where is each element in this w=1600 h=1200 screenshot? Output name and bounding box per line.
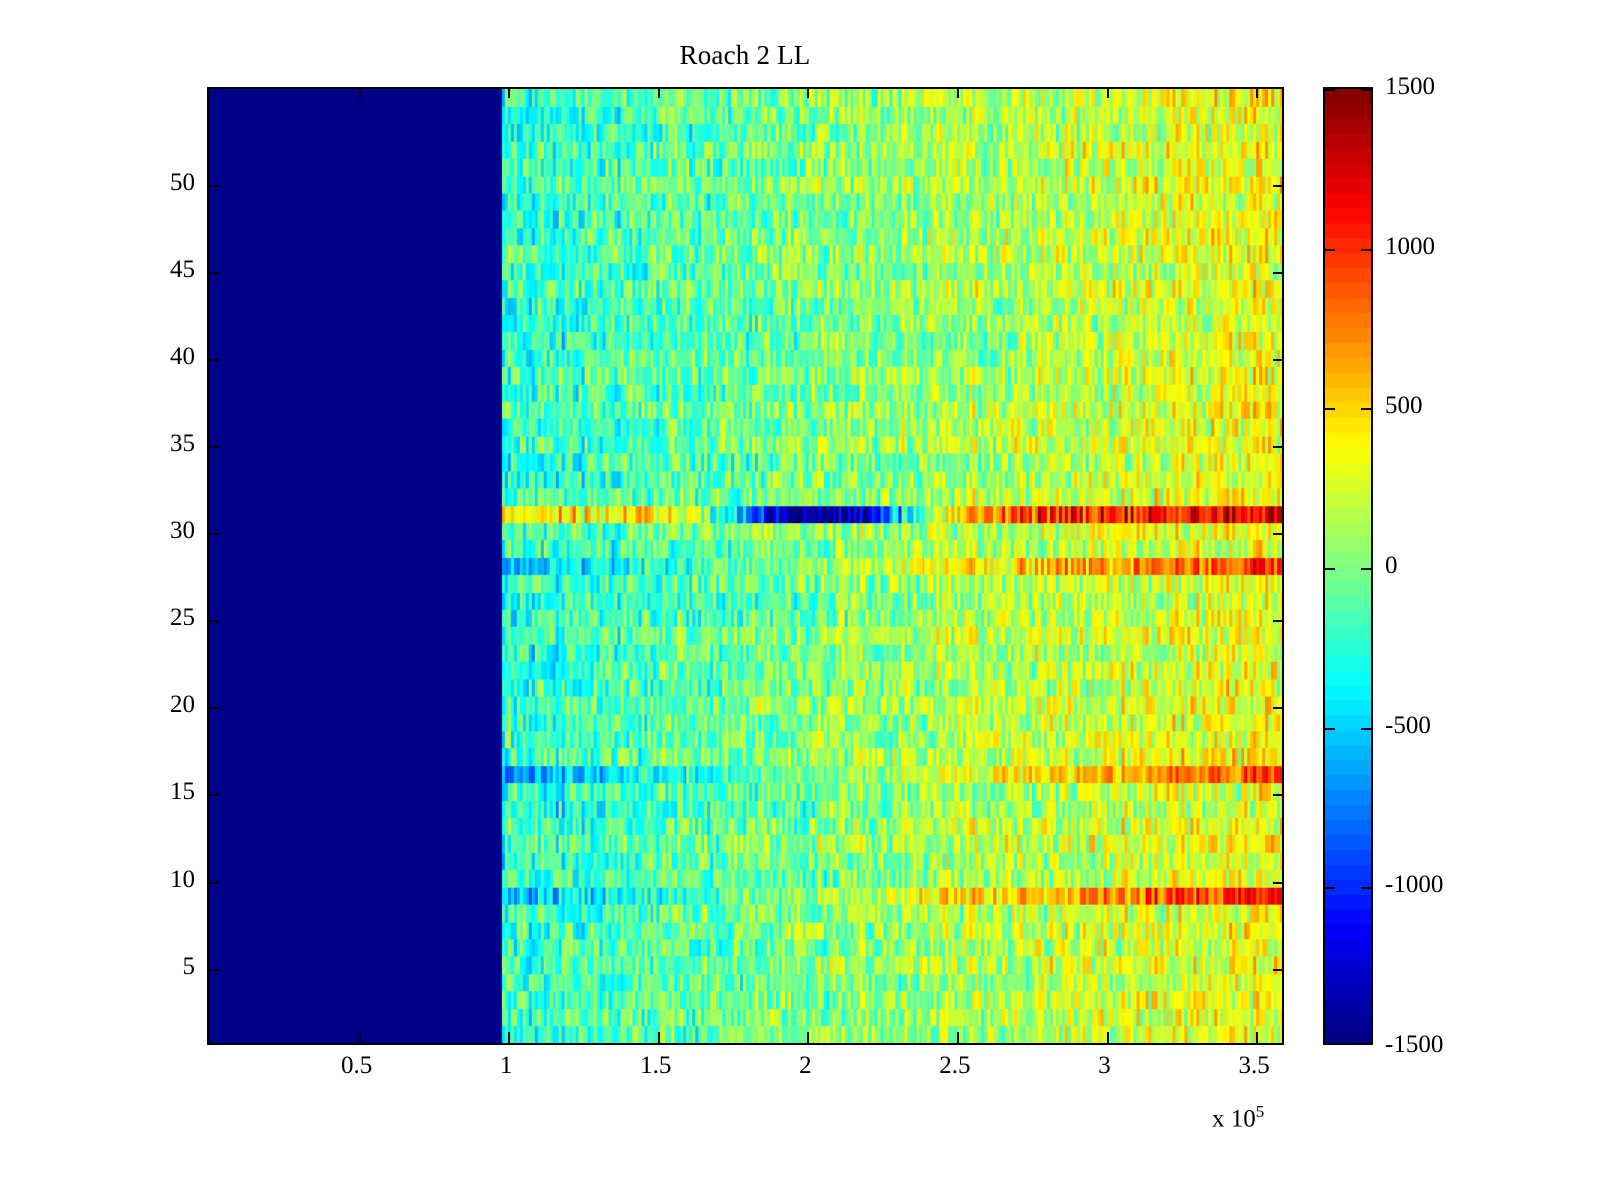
x-axis-tick [508,1032,510,1043]
colorbar-tick [1325,249,1335,251]
colorbar-tick-right [1361,249,1371,251]
y-axis-tick-label: 40 [75,343,195,371]
y-axis-tick [209,272,220,274]
colorbar-tick-label: -500 [1385,712,1431,740]
x-axis-tick-top [1256,87,1258,98]
y-axis-tick [209,359,220,361]
x-axis-tick [1107,1032,1109,1043]
colorbar-tick [1325,887,1335,889]
colorbar-tick-right [1361,89,1371,91]
x-axis-tick-top [957,87,959,98]
x-exponent-base: x 10 [1212,1105,1256,1132]
y-axis-tick-right [1273,272,1284,274]
colorbar-tick-label: 1000 [1385,233,1435,261]
page-title: Roach 2 LL [0,40,1490,71]
heatmap-axes [207,87,1284,1045]
y-axis-tick-label: 45 [75,256,195,284]
y-axis-tick-right [1273,882,1284,884]
x-axis-tick-label: 3.5 [1184,1052,1324,1080]
y-axis-tick-right [1273,707,1284,709]
colorbar [1323,87,1373,1045]
colorbar-tick-right [1361,728,1371,730]
y-axis-tick-right [1273,185,1284,187]
y-axis-tick [209,620,220,622]
y-axis-tick-label: 30 [75,517,195,545]
heatmap-image [209,89,1282,1043]
x-axis-tick-top [1107,87,1109,98]
x-axis-tick [1256,1032,1258,1043]
x-axis-tick [957,1032,959,1043]
y-axis-tick-label: 25 [75,604,195,632]
colorbar-tick-right [1361,887,1371,889]
colorbar-tick [1325,728,1335,730]
y-axis-tick-label: 10 [75,866,195,894]
y-axis-tick-right [1273,620,1284,622]
y-axis-tick-right [1273,533,1284,535]
x-axis-tick-label: 3 [1035,1052,1175,1080]
x-axis-exponent-label: x 105 [1212,1102,1264,1133]
x-axis-tick-label: 2.5 [885,1052,1025,1080]
y-axis-tick [209,882,220,884]
y-axis-tick-label: 35 [75,430,195,458]
y-axis-tick [209,185,220,187]
y-axis-tick-label: 15 [75,778,195,806]
x-axis-tick-top [807,87,809,98]
colorbar-tick-label: -1000 [1385,871,1443,899]
y-axis-tick-right [1273,969,1284,971]
y-axis-tick-right [1273,359,1284,361]
y-axis-tick [209,969,220,971]
x-axis-tick [807,1032,809,1043]
x-axis-tick-label: 1 [436,1052,576,1080]
y-axis-tick-label: 20 [75,691,195,719]
colorbar-tick [1325,408,1335,410]
colorbar-tick [1325,89,1335,91]
colorbar-tick-label: 500 [1385,392,1423,420]
figure-root: Roach 2 LL 51015202530354045500.511.522.… [0,0,1600,1200]
y-axis-tick [209,794,220,796]
x-exponent-power: 5 [1256,1102,1265,1121]
y-axis-tick-right [1273,794,1284,796]
x-axis-tick-top [508,87,510,98]
colorbar-tick-right [1361,568,1371,570]
y-axis-tick-right [1273,446,1284,448]
colorbar-gradient [1325,89,1371,1043]
colorbar-tick-right [1361,408,1371,410]
x-axis-tick-label: 2 [735,1052,875,1080]
colorbar-tick [1325,568,1335,570]
colorbar-tick-label: 0 [1385,552,1398,580]
x-axis-tick-top [359,87,361,98]
colorbar-tick-label: -1500 [1385,1031,1443,1059]
colorbar-tick-label: 1500 [1385,73,1435,101]
y-axis-tick [209,533,220,535]
x-axis-tick [658,1032,660,1043]
x-axis-tick [359,1032,361,1043]
x-axis-tick-label: 0.5 [287,1052,427,1080]
y-axis-tick [209,707,220,709]
x-axis-tick-label: 1.5 [586,1052,726,1080]
y-axis-tick-label: 5 [75,953,195,981]
x-axis-tick-top [658,87,660,98]
y-axis-tick [209,446,220,448]
y-axis-tick-label: 50 [75,169,195,197]
